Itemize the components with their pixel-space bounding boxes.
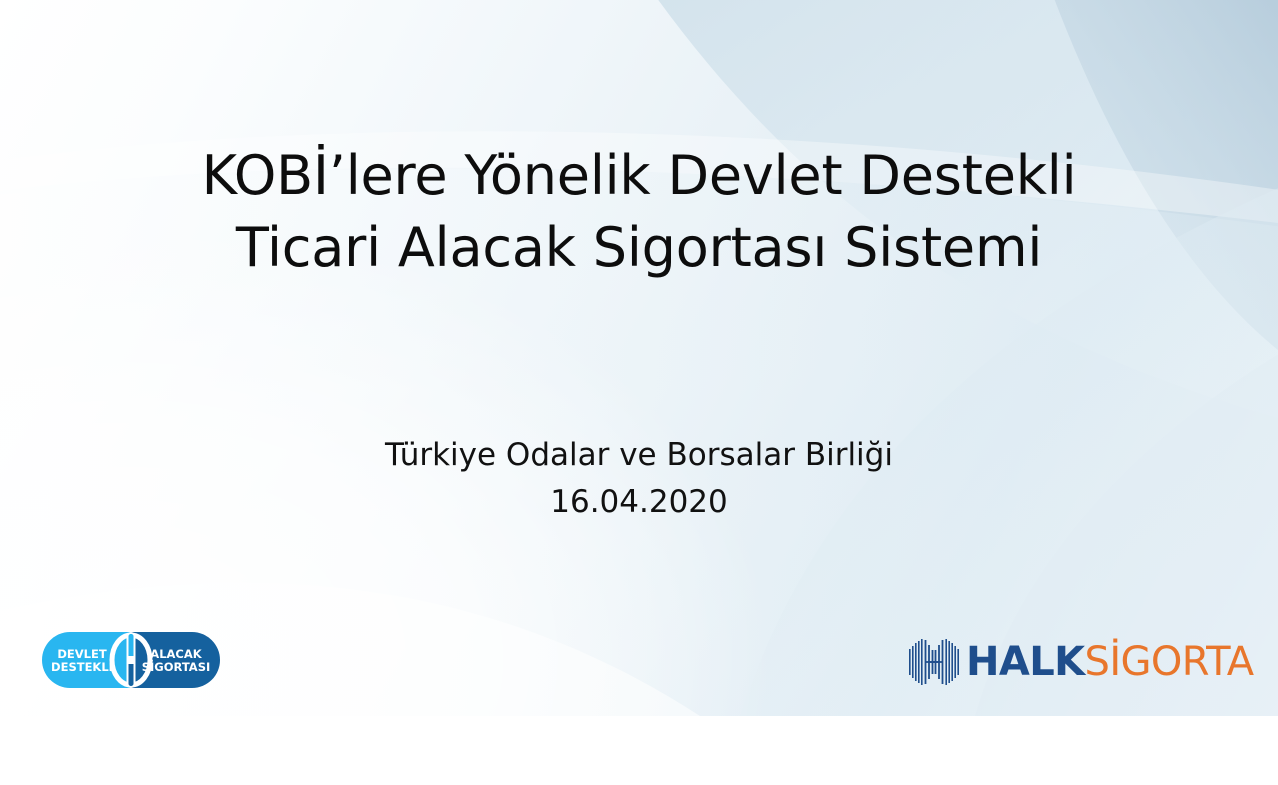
subtitle-date: 16.04.2020 bbox=[0, 479, 1278, 526]
background-swoosh-art bbox=[0, 0, 1278, 716]
slide-subtitle: Türkiye Odalar ve Borsalar Birliği 16.04… bbox=[0, 432, 1278, 526]
halk-sigorta-wordmark: HALKSİGORTA bbox=[966, 642, 1254, 682]
halk-striped-h-icon bbox=[908, 636, 960, 688]
slide-title: KOBİ’lere Yönelik Devlet Destekli Ticari… bbox=[0, 140, 1278, 284]
sigorta-word: SİGORTA bbox=[1085, 639, 1254, 685]
title-line-2: Ticari Alacak Sigortası Sistemi bbox=[0, 212, 1278, 284]
bottom-white-band bbox=[0, 716, 1278, 785]
devlet-destekli-alacak-sigortasi-logo: DEVLET DESTEKLİ ALACAK SİGORTASI bbox=[42, 632, 220, 688]
logo-text-devlet: DEVLET bbox=[57, 647, 106, 661]
logo-text-alacak: ALACAK bbox=[150, 647, 202, 661]
halk-word: HALK bbox=[966, 639, 1085, 685]
logo-text-destekli: DESTEKLİ bbox=[51, 659, 113, 674]
halk-sigorta-logo: HALKSİGORTA bbox=[908, 634, 1240, 690]
subtitle-organization: Türkiye Odalar ve Borsalar Birliği bbox=[0, 432, 1278, 479]
title-line-1: KOBİ’lere Yönelik Devlet Destekli bbox=[0, 140, 1278, 212]
presentation-slide: KOBİ’lere Yönelik Devlet Destekli Ticari… bbox=[0, 0, 1278, 716]
